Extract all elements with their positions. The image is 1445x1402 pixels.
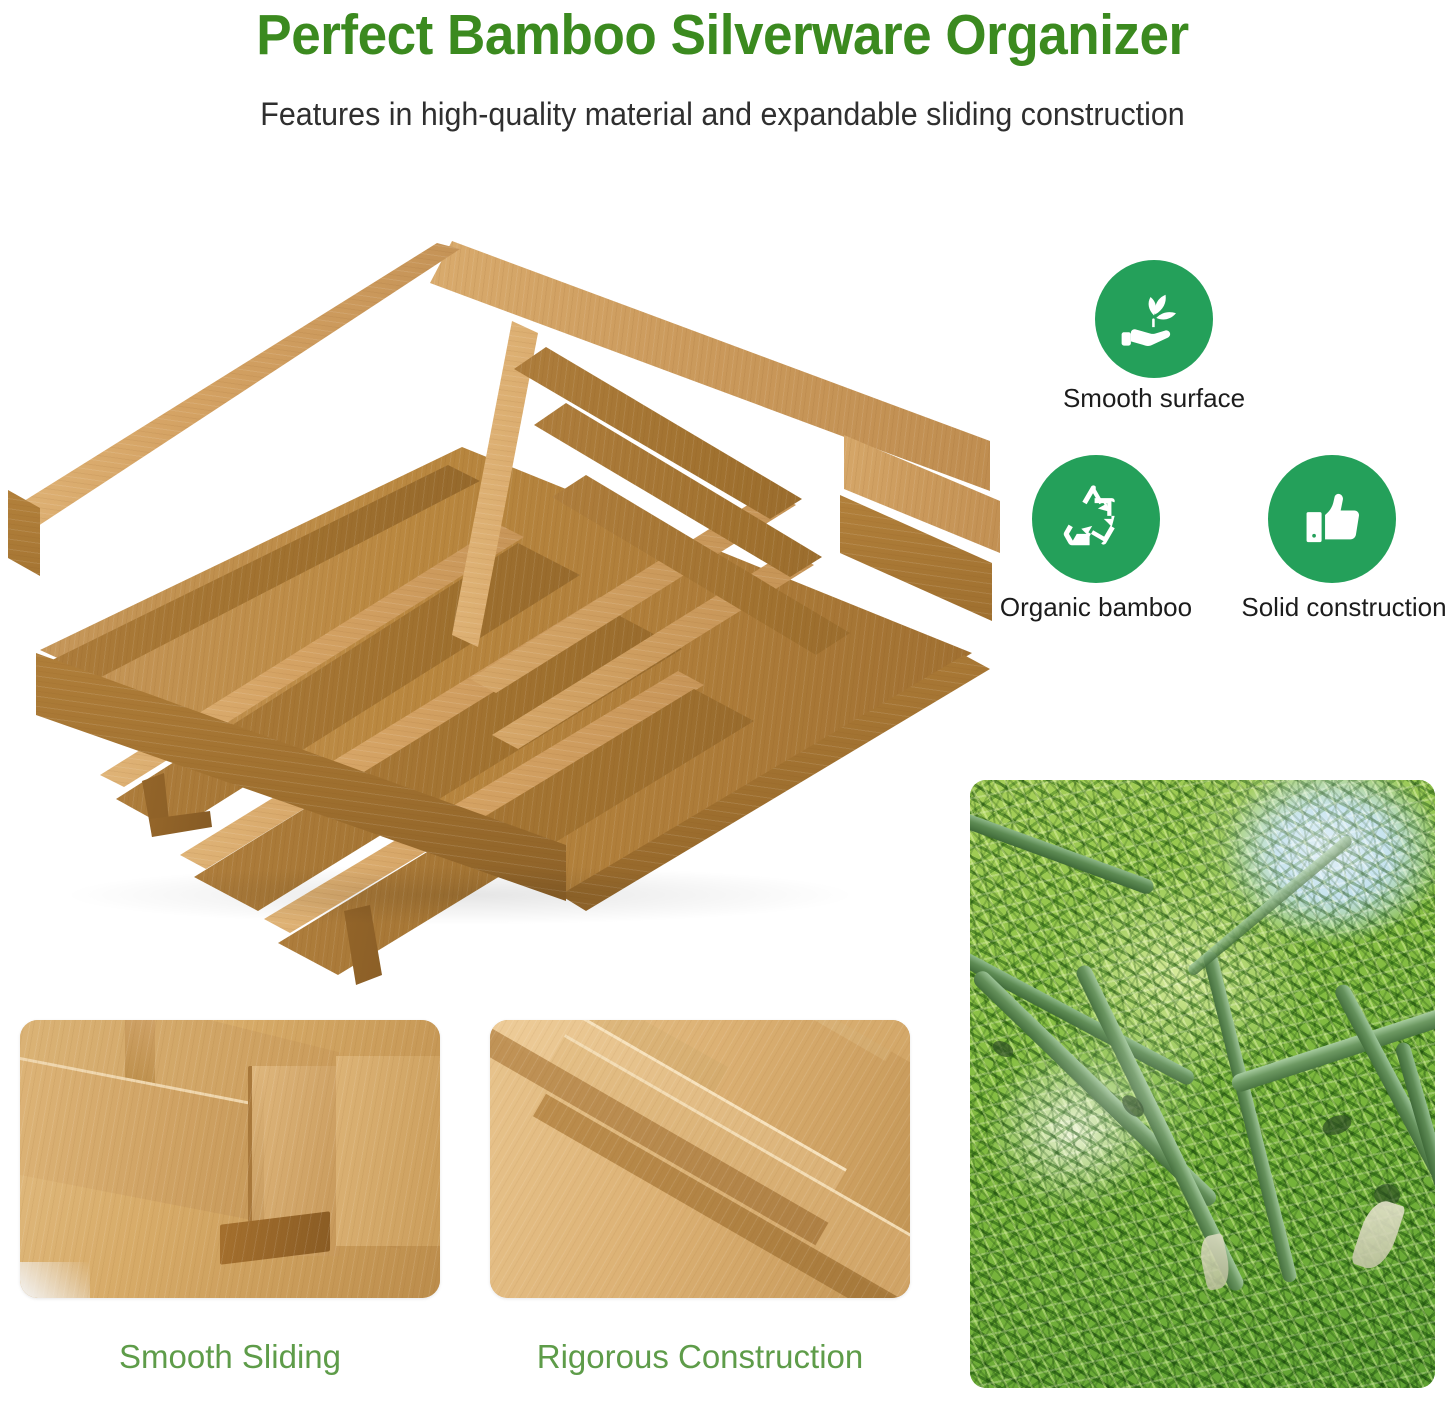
recycle-icon [1058, 481, 1134, 557]
page-subtitle: Features in high-quality material and ex… [36, 96, 1409, 133]
feature-label-solid-construction: Solid construction [1194, 592, 1445, 623]
bamboo-organizer-tray [0, 225, 1000, 915]
page-title: Perfect Bamboo Silverware Organizer [51, 2, 1395, 68]
thumbnail-rigorous-construction [490, 1020, 910, 1298]
feature-badge-organic-bamboo [1032, 455, 1160, 583]
feature-badge-solid-construction [1268, 455, 1396, 583]
feature-label-smooth-surface: Smooth surface [1004, 383, 1304, 414]
thumbs-up-icon [1295, 482, 1369, 556]
feature-badge-group: Smooth surface Organic bamboo Solid cons… [960, 250, 1445, 650]
feature-badge-smooth-surface [1095, 260, 1213, 378]
hand-plant-icon [1117, 282, 1191, 356]
thumbnail-smooth-sliding [20, 1020, 440, 1298]
product-shadow [60, 865, 860, 925]
bamboo-forest-photo [970, 780, 1435, 1388]
hero-product-image [0, 225, 1000, 915]
thumbnail-caption-smooth-sliding: Smooth Sliding [20, 1338, 440, 1376]
thumbnail-caption-rigorous-construction: Rigorous Construction [470, 1338, 930, 1376]
header-banner: Perfect Bamboo Silverware Organizer Feat… [0, 0, 1445, 150]
